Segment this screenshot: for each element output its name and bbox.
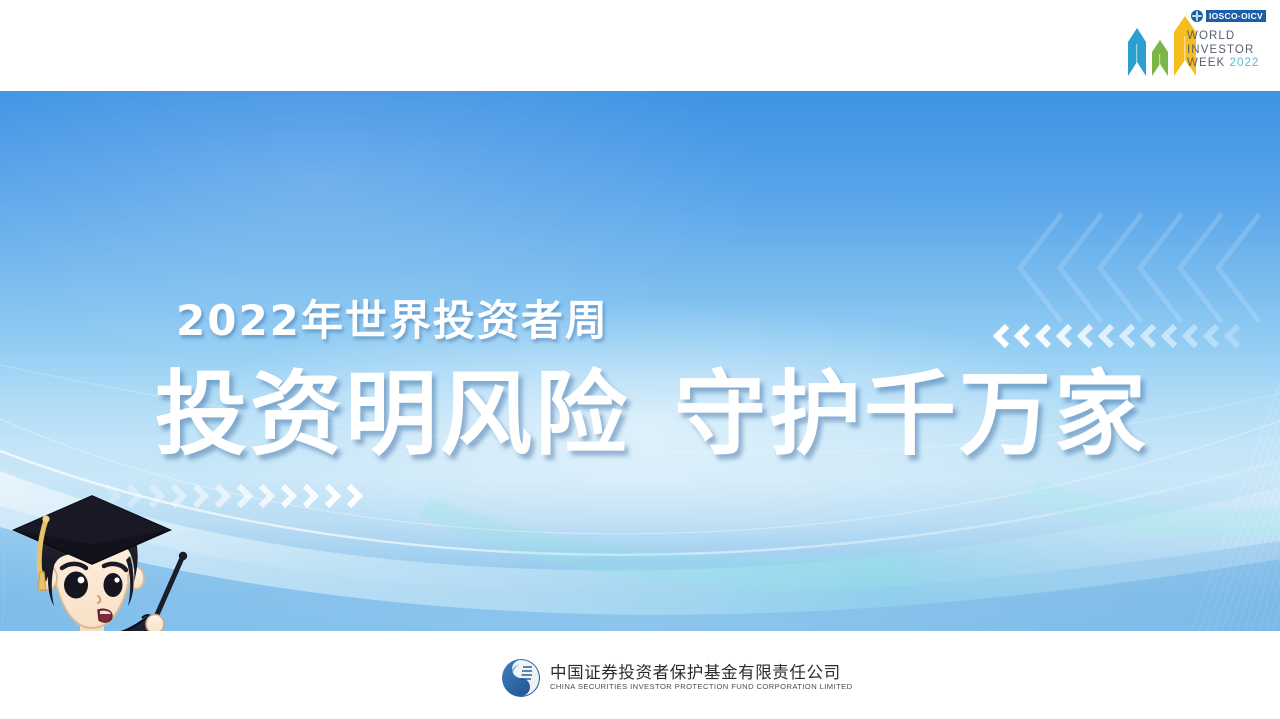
world-investor-week-logo: IOSCO·OICV WORLD INVESTOR WEEK 2022 <box>1100 4 1270 88</box>
iosco-badge: IOSCO·OICV <box>1191 10 1266 22</box>
slide-canvas: IOSCO·OICV WORLD INVESTOR WEEK 2022 <box>0 0 1280 719</box>
chevron-right-icon <box>214 483 231 509</box>
chevron-right-icon <box>258 483 275 509</box>
sponsor-logo-block: 中国证券投资者保护基金有限责任公司 CHINA SECURITIES INVES… <box>501 658 853 698</box>
chevron-right-icon <box>236 483 253 509</box>
spic-fund-logo-icon <box>501 658 541 698</box>
chevron-left-icon <box>1224 323 1241 349</box>
chevron-left-icon <box>1077 323 1094 349</box>
banner-subtitle: 2022年世界投资者周 <box>176 300 609 342</box>
headline-part-1: 投资明风险 <box>155 361 630 468</box>
chevron-right-icon <box>280 483 297 509</box>
banner-headline: 投资明风险守护千万家 <box>155 369 1149 461</box>
chevron-row-left-pointing <box>993 323 1241 349</box>
wiw-year: 2022 <box>1230 57 1260 69</box>
chevron-right-icon <box>346 483 363 509</box>
top-white-strip: IOSCO·OICV WORLD INVESTOR WEEK 2022 <box>0 0 1280 91</box>
footer-bar: 中国证券投资者保护基金有限责任公司 CHINA SECURITIES INVES… <box>0 631 1280 719</box>
chevron-left-icon <box>1182 323 1199 349</box>
wiw-week-word: WEEK <box>1187 57 1225 69</box>
chevron-left-icon <box>1098 323 1115 349</box>
iosco-globe-icon <box>1191 10 1203 22</box>
chevron-left-icon <box>1035 323 1052 349</box>
chevron-left-icon <box>1203 323 1220 349</box>
chevron-watermark <box>1000 196 1260 346</box>
headline-part-2: 守护千万家 <box>674 361 1149 468</box>
sponsor-name-cn: 中国证券投资者保护基金有限责任公司 <box>550 665 853 682</box>
chevron-left-icon <box>1014 323 1031 349</box>
chevron-right-icon <box>324 483 341 509</box>
chevron-left-icon <box>993 323 1010 349</box>
chevron-left-icon <box>1161 323 1178 349</box>
sponsor-name-en: CHINA SECURITIES INVESTOR PROTECTION FUN… <box>550 683 853 691</box>
wiw-line-investor: INVESTOR <box>1187 44 1265 58</box>
world-investor-week-wordmark: WORLD INVESTOR WEEK 2022 <box>1187 30 1265 71</box>
wiw-line-world: WORLD <box>1187 30 1265 44</box>
wiw-line-week-year: WEEK 2022 <box>1187 57 1265 71</box>
chevron-left-icon <box>1119 323 1136 349</box>
chevron-left-icon <box>1056 323 1073 349</box>
sponsor-name-block: 中国证券投资者保护基金有限责任公司 CHINA SECURITIES INVES… <box>550 665 853 691</box>
iosco-label: IOSCO·OICV <box>1206 10 1266 22</box>
chevron-right-icon <box>302 483 319 509</box>
chevron-left-icon <box>1140 323 1157 349</box>
